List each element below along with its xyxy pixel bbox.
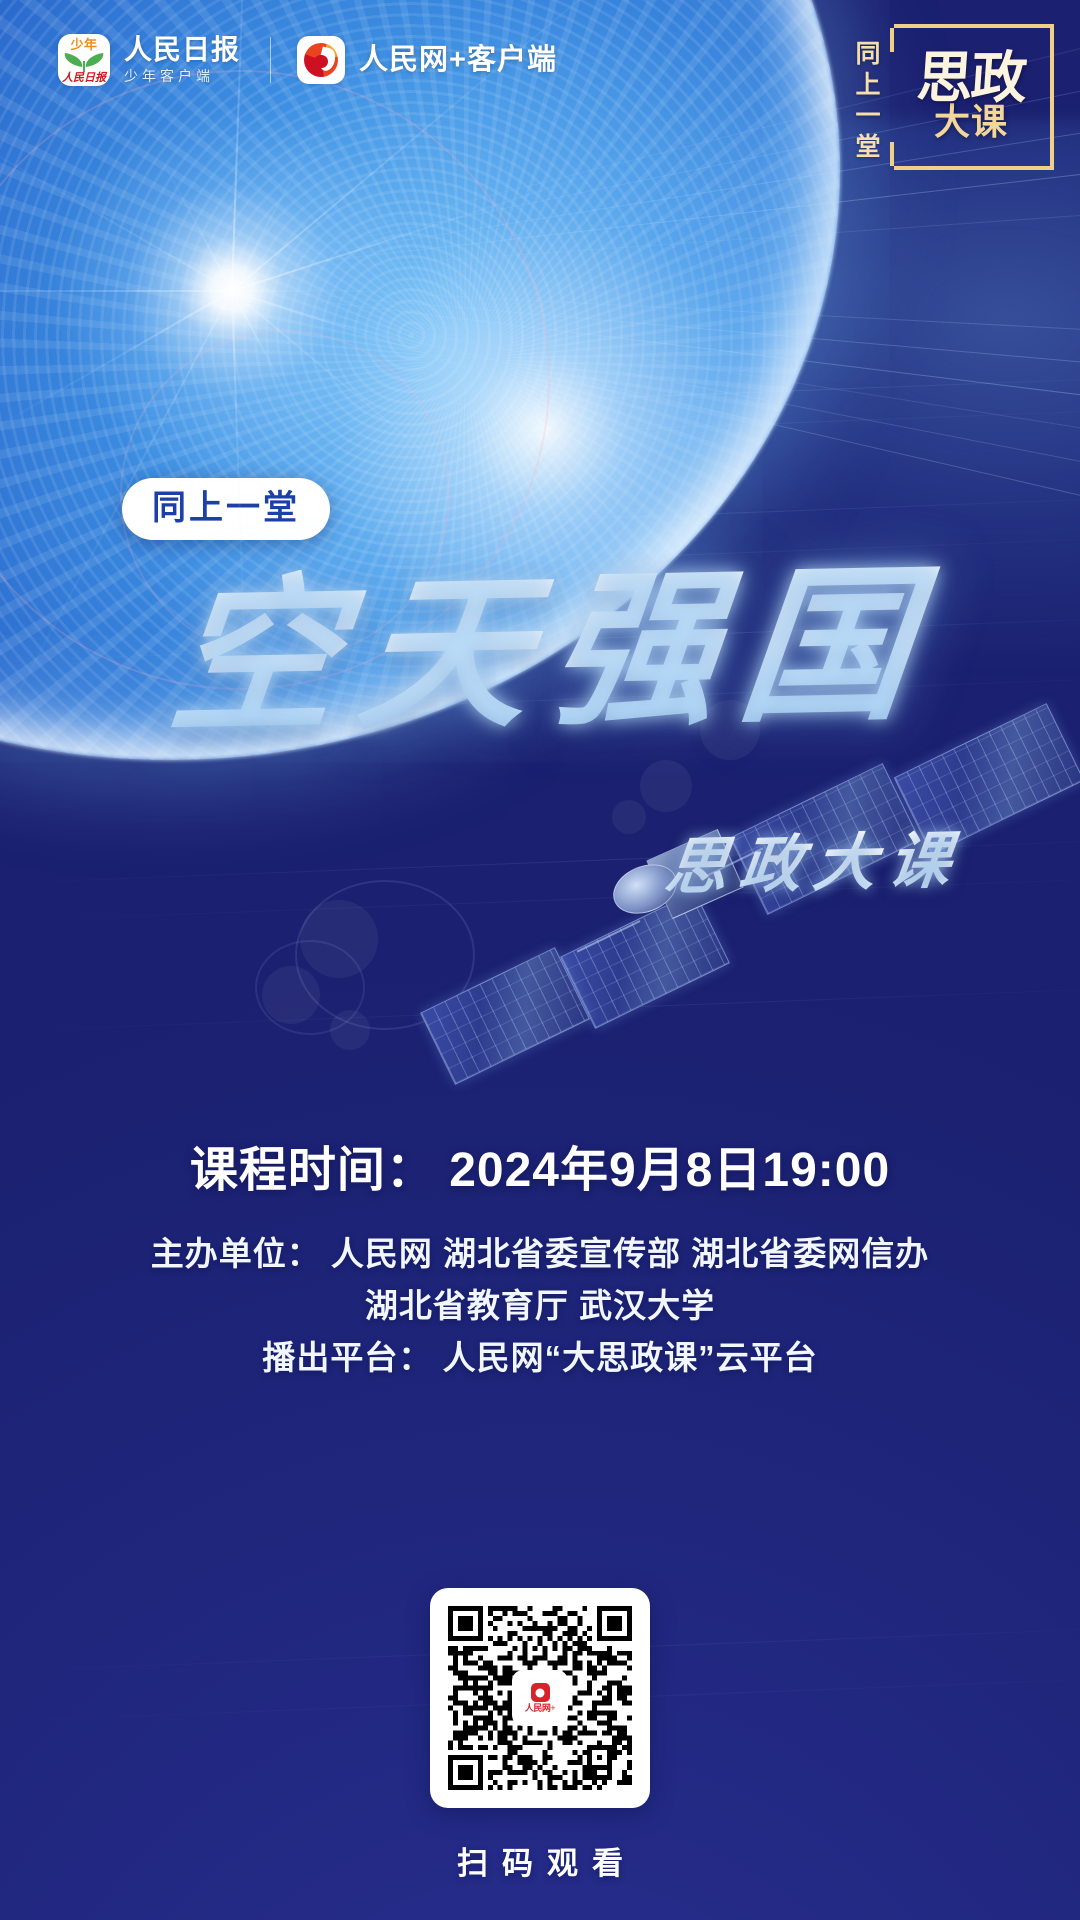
seal-char: 一 xyxy=(855,102,880,130)
course-time: 课程时间： 2024年9月8日19:00 xyxy=(0,1140,1080,1202)
peoples-daily-subname: 少年客户端 xyxy=(124,67,240,85)
sun-flare-icon xyxy=(22,80,442,500)
sprout-stem-icon xyxy=(83,61,85,72)
qr-code-card[interactable]: 人民网+ xyxy=(430,1588,650,1808)
page-title: 空天强国 xyxy=(0,555,1080,754)
renminwang-swirl-glyph xyxy=(304,43,338,77)
seal-vertical-text: 同 上 一 堂 xyxy=(842,24,894,170)
page-subtitle: 思政大课 xyxy=(661,826,966,903)
qr-center-logo: 人民网+ xyxy=(514,1672,566,1724)
renminwang-logo-icon xyxy=(297,36,345,84)
vertical-divider-icon xyxy=(270,37,271,83)
course-info-block: 课程时间： 2024年9月8日19:00 主办单位： 人民网 湖北省委宣传部 湖… xyxy=(0,1140,1080,1384)
renminwang-label: 人民网+客户端 xyxy=(359,44,557,76)
sprout-leaf-icon xyxy=(63,53,83,67)
peoples-daily-name: 人民日报 xyxy=(124,35,240,65)
seal-char: 同 xyxy=(855,40,880,68)
badge-label: 同上一堂 xyxy=(152,489,300,527)
seal-big-text: 思政 xyxy=(915,51,1027,107)
satellite-graphic xyxy=(560,770,1080,1100)
qr-logo-label: 人民网+ xyxy=(525,1704,555,1713)
organizers-line-2: 湖北省教育厅 武汉大学 xyxy=(0,1280,1080,1332)
tongshang-yitang-seal: 同 上 一 堂 思政 大课 xyxy=(842,24,1054,170)
tongshang-yitang-badge: 同上一堂 xyxy=(122,478,330,540)
peoples-daily-logo-group[interactable]: 少年 人民日报 人民日报 少年客户端 xyxy=(58,34,240,86)
qr-caption: 扫码观看 xyxy=(0,1845,1080,1883)
poster-root: 少年 人民日报 人民日报 少年客户端 人民网+客户端 同 上 一 堂 xyxy=(0,0,1080,1920)
seal-frame: 思政 大课 xyxy=(894,24,1054,170)
renminwang-logo-group[interactable]: 人民网+客户端 xyxy=(297,36,557,84)
shaonian-icon-bottom-label: 人民日报 xyxy=(58,72,110,84)
sprout-leaf-icon xyxy=(84,53,104,67)
seal-char: 堂 xyxy=(855,133,880,161)
seal-char: 上 xyxy=(855,71,880,99)
shaonian-app-icon: 少年 人民日报 xyxy=(58,34,110,86)
shaonian-icon-top-label: 少年 xyxy=(58,38,110,51)
renminwang-mark-icon xyxy=(531,1683,550,1702)
qr-code-image: 人民网+ xyxy=(448,1606,632,1790)
broadcast-platform-line: 播出平台： 人民网“大思政课”云平台 xyxy=(0,1332,1080,1384)
peoples-daily-text-block: 人民日报 少年客户端 xyxy=(124,35,240,85)
organizers-line-1: 主办单位： 人民网 湖北省委宣传部 湖北省委网信办 xyxy=(0,1228,1080,1280)
